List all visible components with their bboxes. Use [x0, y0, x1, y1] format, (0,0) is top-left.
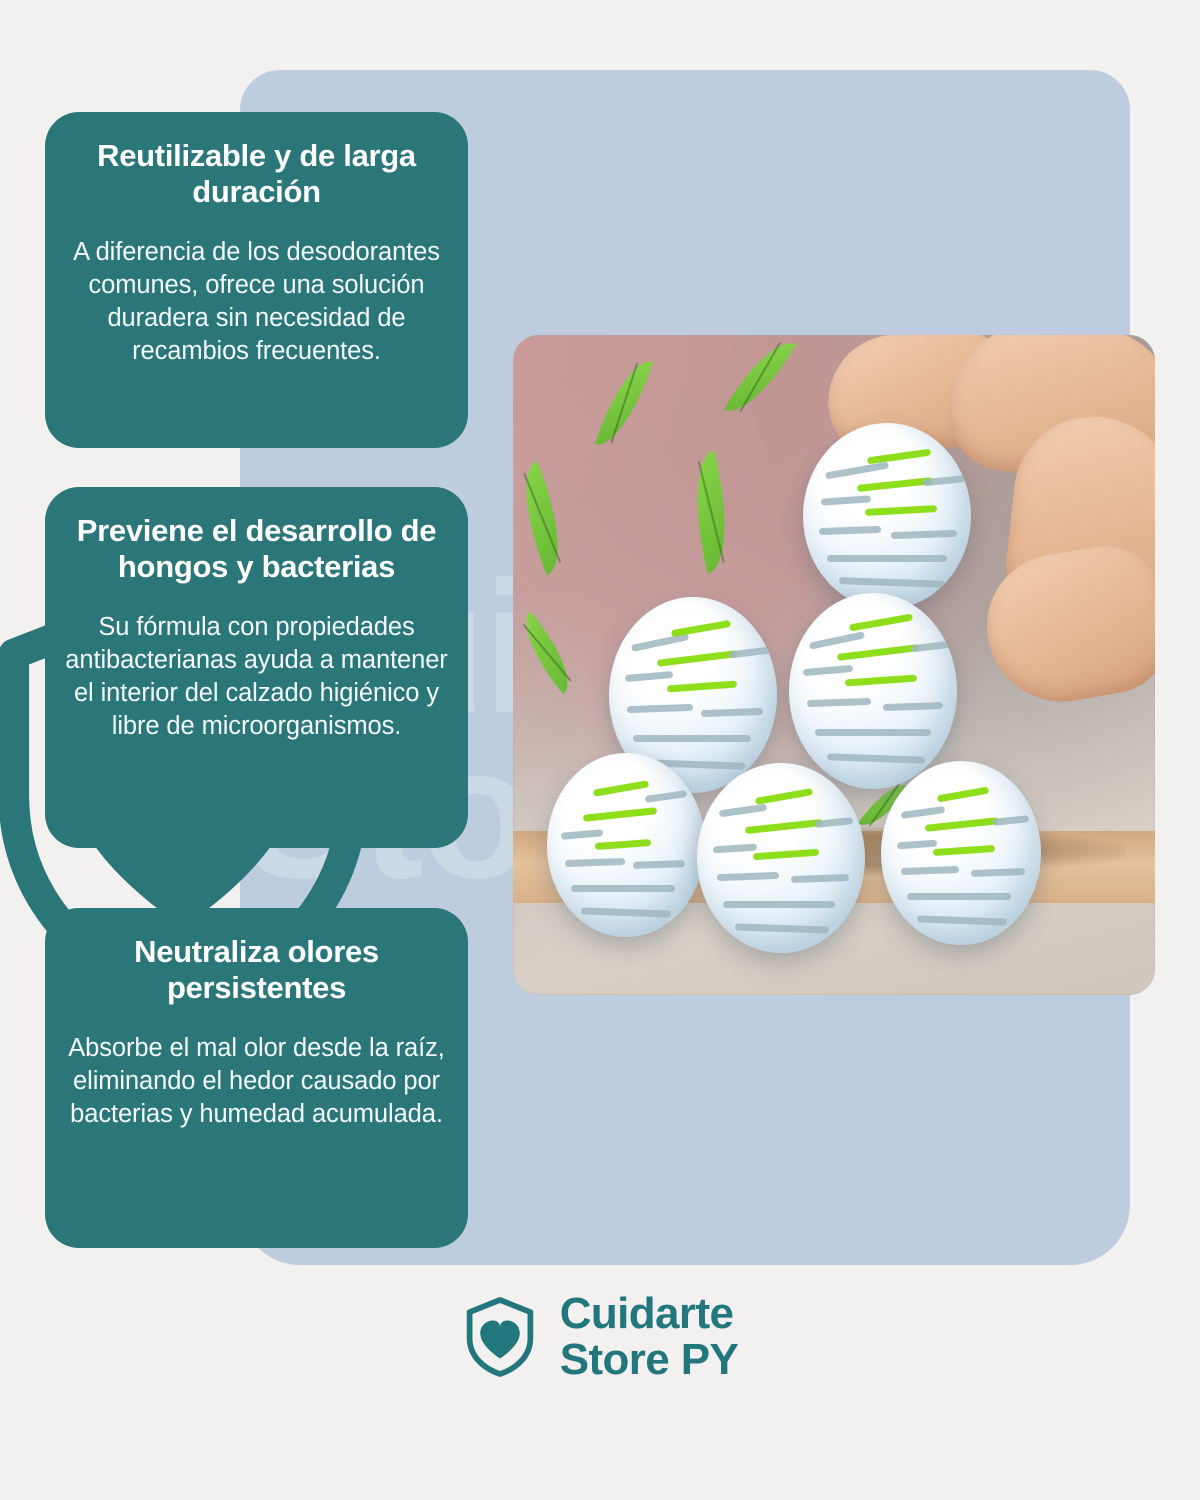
- deodorizer-ball: [803, 423, 971, 609]
- deodorizer-ball: [789, 593, 957, 789]
- deodorizer-ball: [547, 753, 705, 937]
- feature-card-neutraliza-olores: Neutraliza olores persistentes Absorbe e…: [45, 908, 468, 1248]
- feature-card-reutilizable: Reutilizable y de larga duración A difer…: [45, 112, 468, 448]
- feature-card-body: Su fórmula con propiedades antibacterian…: [63, 611, 450, 744]
- product-photo: [513, 335, 1155, 995]
- feature-card-hongos-bacterias: Previene el desarrollo de hongos y bacte…: [45, 487, 468, 848]
- deodorizer-ball: [881, 761, 1041, 945]
- feature-card-title: Previene el desarrollo de hongos y bacte…: [63, 513, 450, 585]
- shield-heart-icon: [462, 1296, 538, 1378]
- brand-name: Cuidarte Store PY: [560, 1291, 739, 1383]
- feature-card-body: Absorbe el mal olor desde la raíz, elimi…: [63, 1032, 450, 1131]
- feature-card-title: Neutraliza olores persistentes: [63, 934, 450, 1006]
- feature-card-title: Reutilizable y de larga duración: [63, 138, 450, 210]
- deodorizer-ball: [697, 763, 865, 953]
- feature-card-body: A diferencia de los desodorantes comunes…: [63, 236, 450, 369]
- brand-footer: Cuidarte Store PY: [0, 1282, 1200, 1392]
- poster-canvas: Cuidarte Store PY: [0, 0, 1200, 1500]
